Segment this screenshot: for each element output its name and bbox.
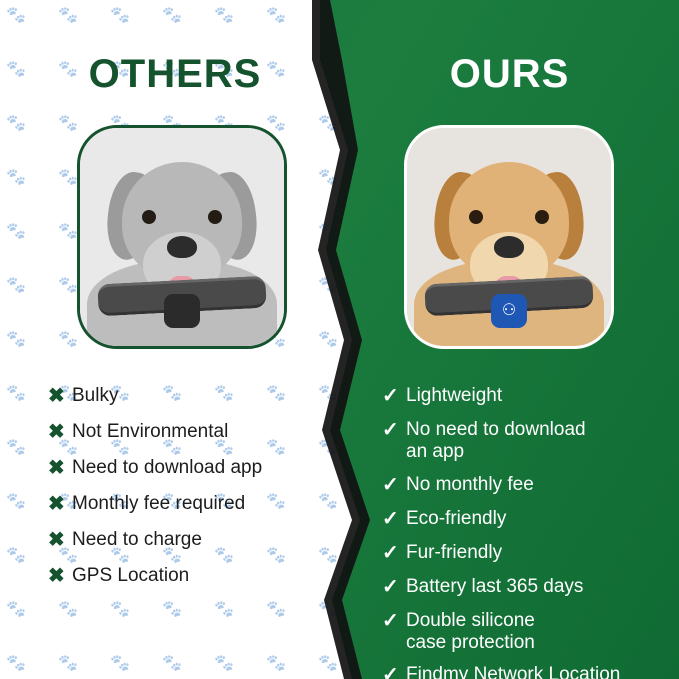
- ours-feature-label-line1: Eco-friendly: [406, 508, 506, 529]
- cross-icon: ✖: [48, 457, 72, 480]
- check-icon: ✓: [382, 576, 406, 599]
- ours-feature-item: ✓Battery last 365 days: [382, 576, 674, 599]
- check-icon: ✓: [382, 542, 406, 565]
- paw-print-icon: 🐾: [58, 116, 78, 132]
- paw-print-icon: 🐾: [266, 602, 286, 618]
- ours-feature-label: Eco-friendly: [406, 508, 506, 530]
- others-feature-item: ✖Need to download app: [48, 457, 348, 480]
- others-dog-photo: [77, 125, 287, 349]
- ours-feature-item: ✓Findmy Network Location: [382, 664, 674, 679]
- paw-print-icon: 🐾: [6, 170, 26, 186]
- paw-print-icon: 🐾: [6, 278, 26, 294]
- paw-print-icon: 🐾: [6, 602, 26, 618]
- paw-print-icon: 🐾: [58, 170, 78, 186]
- paw-print-icon: 🐾: [266, 8, 286, 24]
- paw-print-icon: 🐾: [162, 602, 182, 618]
- ours-feature-label: Battery last 365 days: [406, 576, 583, 598]
- paw-print-icon: 🐾: [6, 440, 26, 456]
- paw-print-icon: 🐾: [58, 332, 78, 348]
- ours-feature-item: ✓Eco-friendly: [382, 508, 674, 531]
- ours-feature-label-line1: No need to download: [406, 419, 586, 440]
- ours-feature-item: ✓No need to downloadan app: [382, 419, 674, 463]
- paw-print-icon: 🐾: [58, 656, 78, 672]
- check-icon: ✓: [382, 508, 406, 531]
- comparison-graphic: 🐾🐾🐾🐾🐾🐾🐾🐾🐾🐾🐾🐾🐾🐾🐾🐾🐾🐾🐾🐾🐾🐾🐾🐾🐾🐾🐾🐾🐾🐾🐾🐾🐾🐾🐾🐾🐾🐾🐾🐾…: [0, 0, 679, 679]
- paw-print-icon: 🐾: [58, 8, 78, 24]
- paw-print-icon: 🐾: [162, 8, 182, 24]
- paw-print-icon: 🐾: [318, 332, 338, 348]
- ours-feature-label: Double siliconecase protection: [406, 610, 535, 654]
- check-icon: ✓: [382, 664, 406, 679]
- bone-tracker-icon: ⚇: [491, 294, 527, 328]
- others-feature-list: ✖Bulky✖Not Environmental✖Need to downloa…: [48, 385, 348, 601]
- check-icon: ✓: [382, 385, 406, 408]
- ours-feature-label: No monthly fee: [406, 474, 534, 496]
- paw-print-icon: 🐾: [110, 8, 130, 24]
- check-icon: ✓: [382, 419, 406, 442]
- ours-feature-label-line1: Fur-friendly: [406, 542, 502, 563]
- ours-feature-item: ✓Lightweight: [382, 385, 674, 408]
- paw-print-icon: 🐾: [6, 224, 26, 240]
- others-feature-item: ✖Bulky: [48, 385, 348, 408]
- paw-print-icon: 🐾: [214, 8, 234, 24]
- paw-print-icon: 🐾: [6, 332, 26, 348]
- paw-print-icon: 🐾: [6, 386, 26, 402]
- ours-feature-label-line1: Lightweight: [406, 385, 502, 406]
- others-feature-item: ✖Need to charge: [48, 529, 348, 552]
- paw-print-icon: 🐾: [58, 602, 78, 618]
- check-icon: ✓: [382, 474, 406, 497]
- paw-print-icon: 🐾: [266, 656, 286, 672]
- others-feature-item: ✖GPS Location: [48, 565, 348, 588]
- paw-print-icon: 🐾: [6, 8, 26, 24]
- ours-feature-label-line2: case protection: [406, 632, 535, 654]
- paw-print-icon: 🐾: [6, 494, 26, 510]
- ours-feature-label-line1: Double silicone: [406, 610, 535, 631]
- paw-print-icon: 🐾: [6, 116, 26, 132]
- others-feature-item: ✖Monthly fee required: [48, 493, 348, 516]
- paw-print-icon: 🐾: [6, 656, 26, 672]
- others-feature-label: Not Environmental: [72, 421, 228, 443]
- others-feature-item: ✖Not Environmental: [48, 421, 348, 444]
- ours-dog-photo: ⚇: [404, 125, 614, 349]
- paw-print-icon: 🐾: [214, 656, 234, 672]
- ours-feature-label-line1: No monthly fee: [406, 474, 534, 495]
- ours-title: OURS: [340, 52, 679, 97]
- others-feature-label: Bulky: [72, 385, 118, 407]
- check-icon: ✓: [382, 610, 406, 633]
- cross-icon: ✖: [48, 493, 72, 516]
- cross-icon: ✖: [48, 565, 72, 588]
- others-feature-label: GPS Location: [72, 565, 189, 587]
- ours-feature-label-line1: Findmy Network Location: [406, 664, 620, 679]
- ours-feature-label-line2: an app: [406, 441, 586, 463]
- others-feature-label: Need to charge: [72, 529, 202, 551]
- ours-feature-list: ✓Lightweight✓No need to downloadan app✓N…: [382, 385, 674, 679]
- cross-icon: ✖: [48, 421, 72, 444]
- paw-print-icon: 🐾: [162, 656, 182, 672]
- ours-feature-item: ✓No monthly fee: [382, 474, 674, 497]
- paw-print-icon: 🐾: [58, 224, 78, 240]
- ours-feature-item: ✓Double siliconecase protection: [382, 610, 674, 654]
- others-title: OTHERS: [0, 52, 350, 97]
- ours-feature-label: Findmy Network Location: [406, 664, 620, 679]
- others-feature-label: Need to download app: [72, 457, 262, 479]
- ours-feature-item: ✓Fur-friendly: [382, 542, 674, 565]
- others-feature-label: Monthly fee required: [72, 493, 245, 515]
- ours-feature-label: Fur-friendly: [406, 542, 502, 564]
- cross-icon: ✖: [48, 385, 72, 408]
- ours-feature-label: No need to downloadan app: [406, 419, 586, 463]
- paw-print-icon: 🐾: [110, 656, 130, 672]
- bulky-tracker-icon: [164, 294, 200, 328]
- paw-print-icon: 🐾: [58, 278, 78, 294]
- ours-feature-label: Lightweight: [406, 385, 502, 407]
- paw-print-icon: 🐾: [318, 656, 338, 672]
- paw-print-icon: 🐾: [110, 602, 130, 618]
- paw-print-icon: 🐾: [214, 602, 234, 618]
- paw-print-icon: 🐾: [6, 548, 26, 564]
- ours-feature-label-line1: Battery last 365 days: [406, 576, 583, 597]
- cross-icon: ✖: [48, 529, 72, 552]
